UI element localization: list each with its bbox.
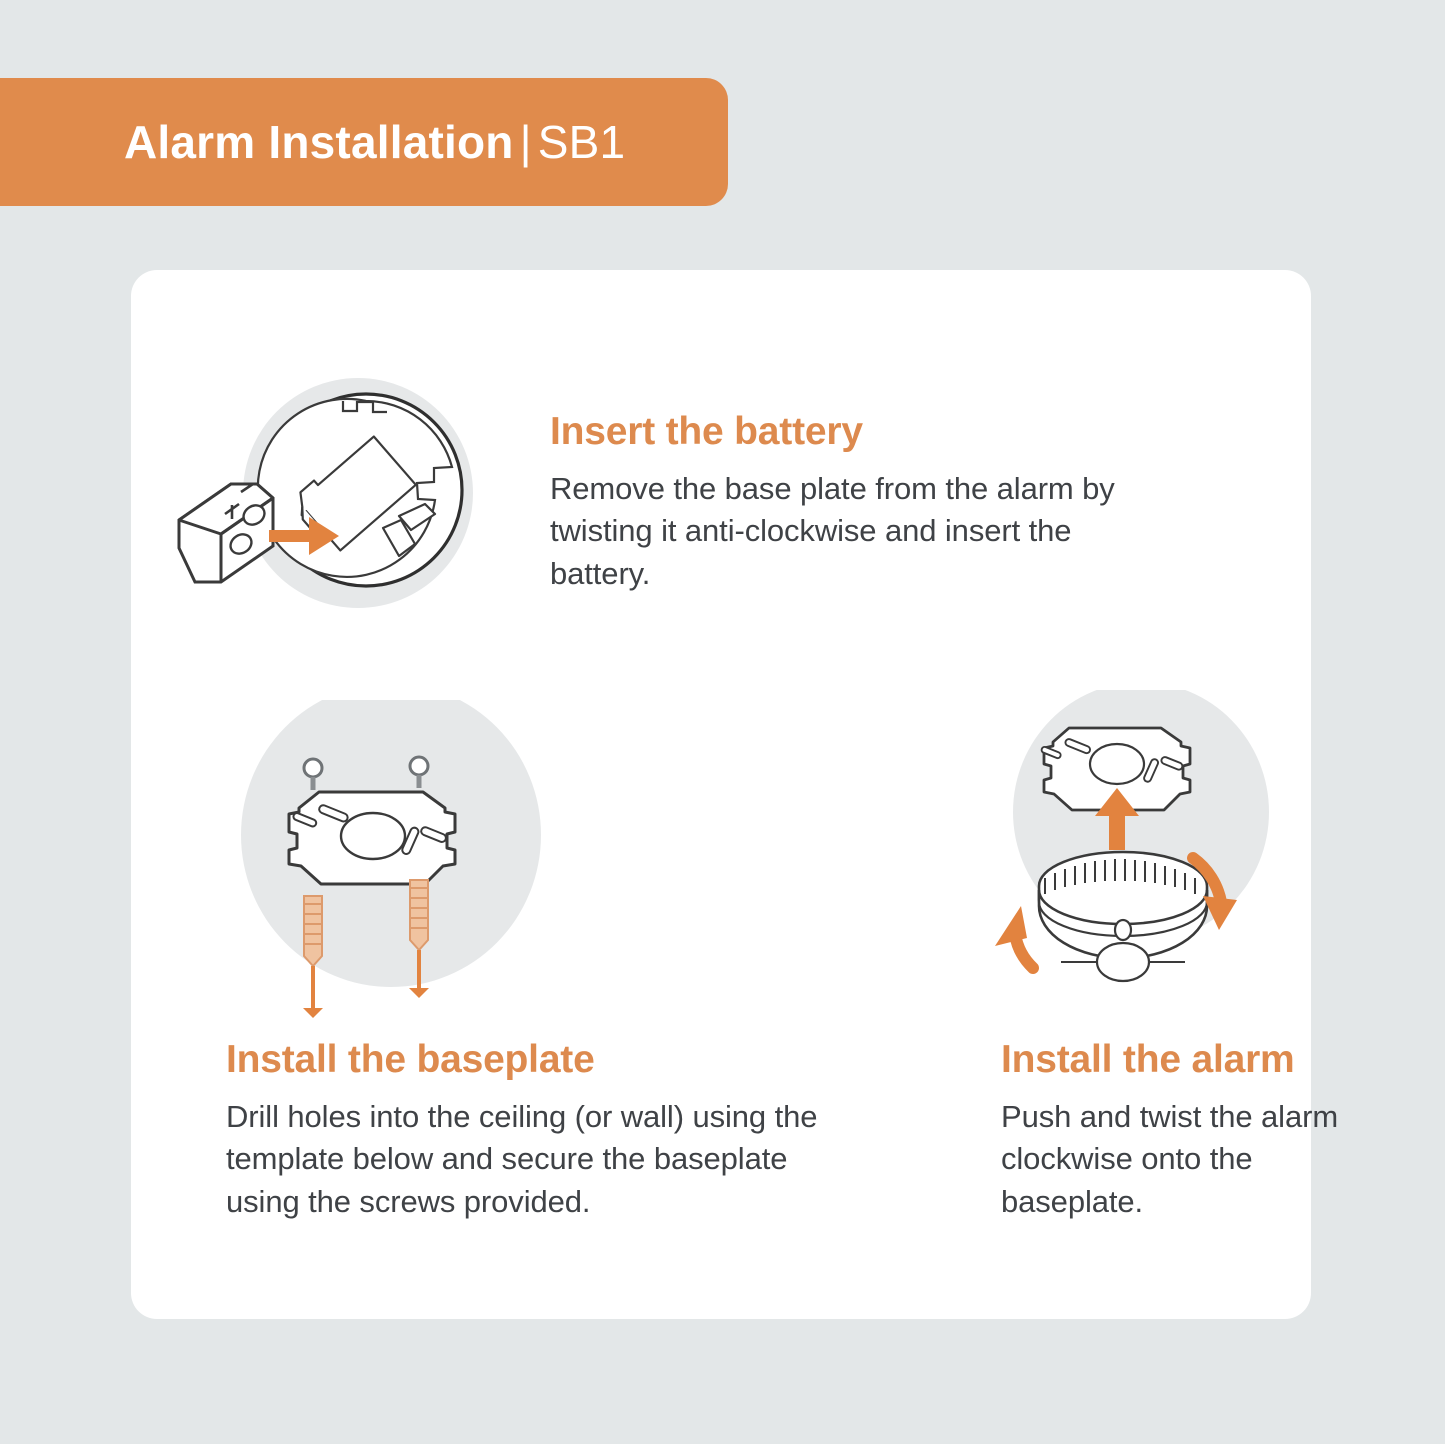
smoke-alarm-icon (1039, 852, 1207, 981)
step-install-alarm-body: Push and twist the alarm clockwise onto … (1001, 1096, 1341, 1223)
steps-bottom-row: Install the baseplate Drill holes into t… (131, 700, 1311, 1319)
page-title: Alarm Installation|SB1 (124, 119, 625, 165)
page-title-model: SB1 (538, 116, 626, 168)
alarm-illustration-svg (981, 690, 1281, 1010)
twist-arrow-left-icon (995, 906, 1033, 968)
screw-shaft-icon-left (303, 966, 323, 1018)
step-install-baseplate-body: Drill holes into the ceiling (or wall) u… (226, 1096, 846, 1223)
alarm-twist-onto-baseplate-illustration (981, 690, 1281, 1010)
step-install-alarm-title: Install the alarm (1001, 1038, 1341, 1082)
step-install-baseplate-title: Install the baseplate (226, 1038, 846, 1082)
battery-into-baseplate-illustration (161, 368, 501, 618)
page-title-separator: | (514, 116, 538, 168)
step-install-baseplate-text: Install the baseplate Drill holes into t… (226, 1038, 846, 1223)
step-insert-battery-text: Insert the battery Remove the base plate… (550, 410, 1170, 595)
battery-9v-icon (179, 484, 273, 582)
baseplate-illustration-svg (241, 700, 541, 1030)
wall-plug-icon-left (304, 896, 322, 966)
battery-illustration-svg (161, 368, 501, 618)
page-header-banner: Alarm Installation|SB1 (0, 78, 728, 206)
wall-plug-icon-right (410, 880, 428, 950)
step-insert-battery-body: Remove the base plate from the alarm by … (550, 468, 1170, 595)
step-insert-battery: Insert the battery Remove the base plate… (131, 270, 1311, 700)
instructions-card: Insert the battery Remove the base plate… (131, 270, 1311, 1319)
page-title-main: Alarm Installation (124, 116, 514, 168)
step-install-alarm-text: Install the alarm Push and twist the ala… (1001, 1038, 1341, 1223)
step-insert-battery-title: Insert the battery (550, 410, 1170, 454)
baseplate-screws-illustration (241, 700, 541, 1030)
